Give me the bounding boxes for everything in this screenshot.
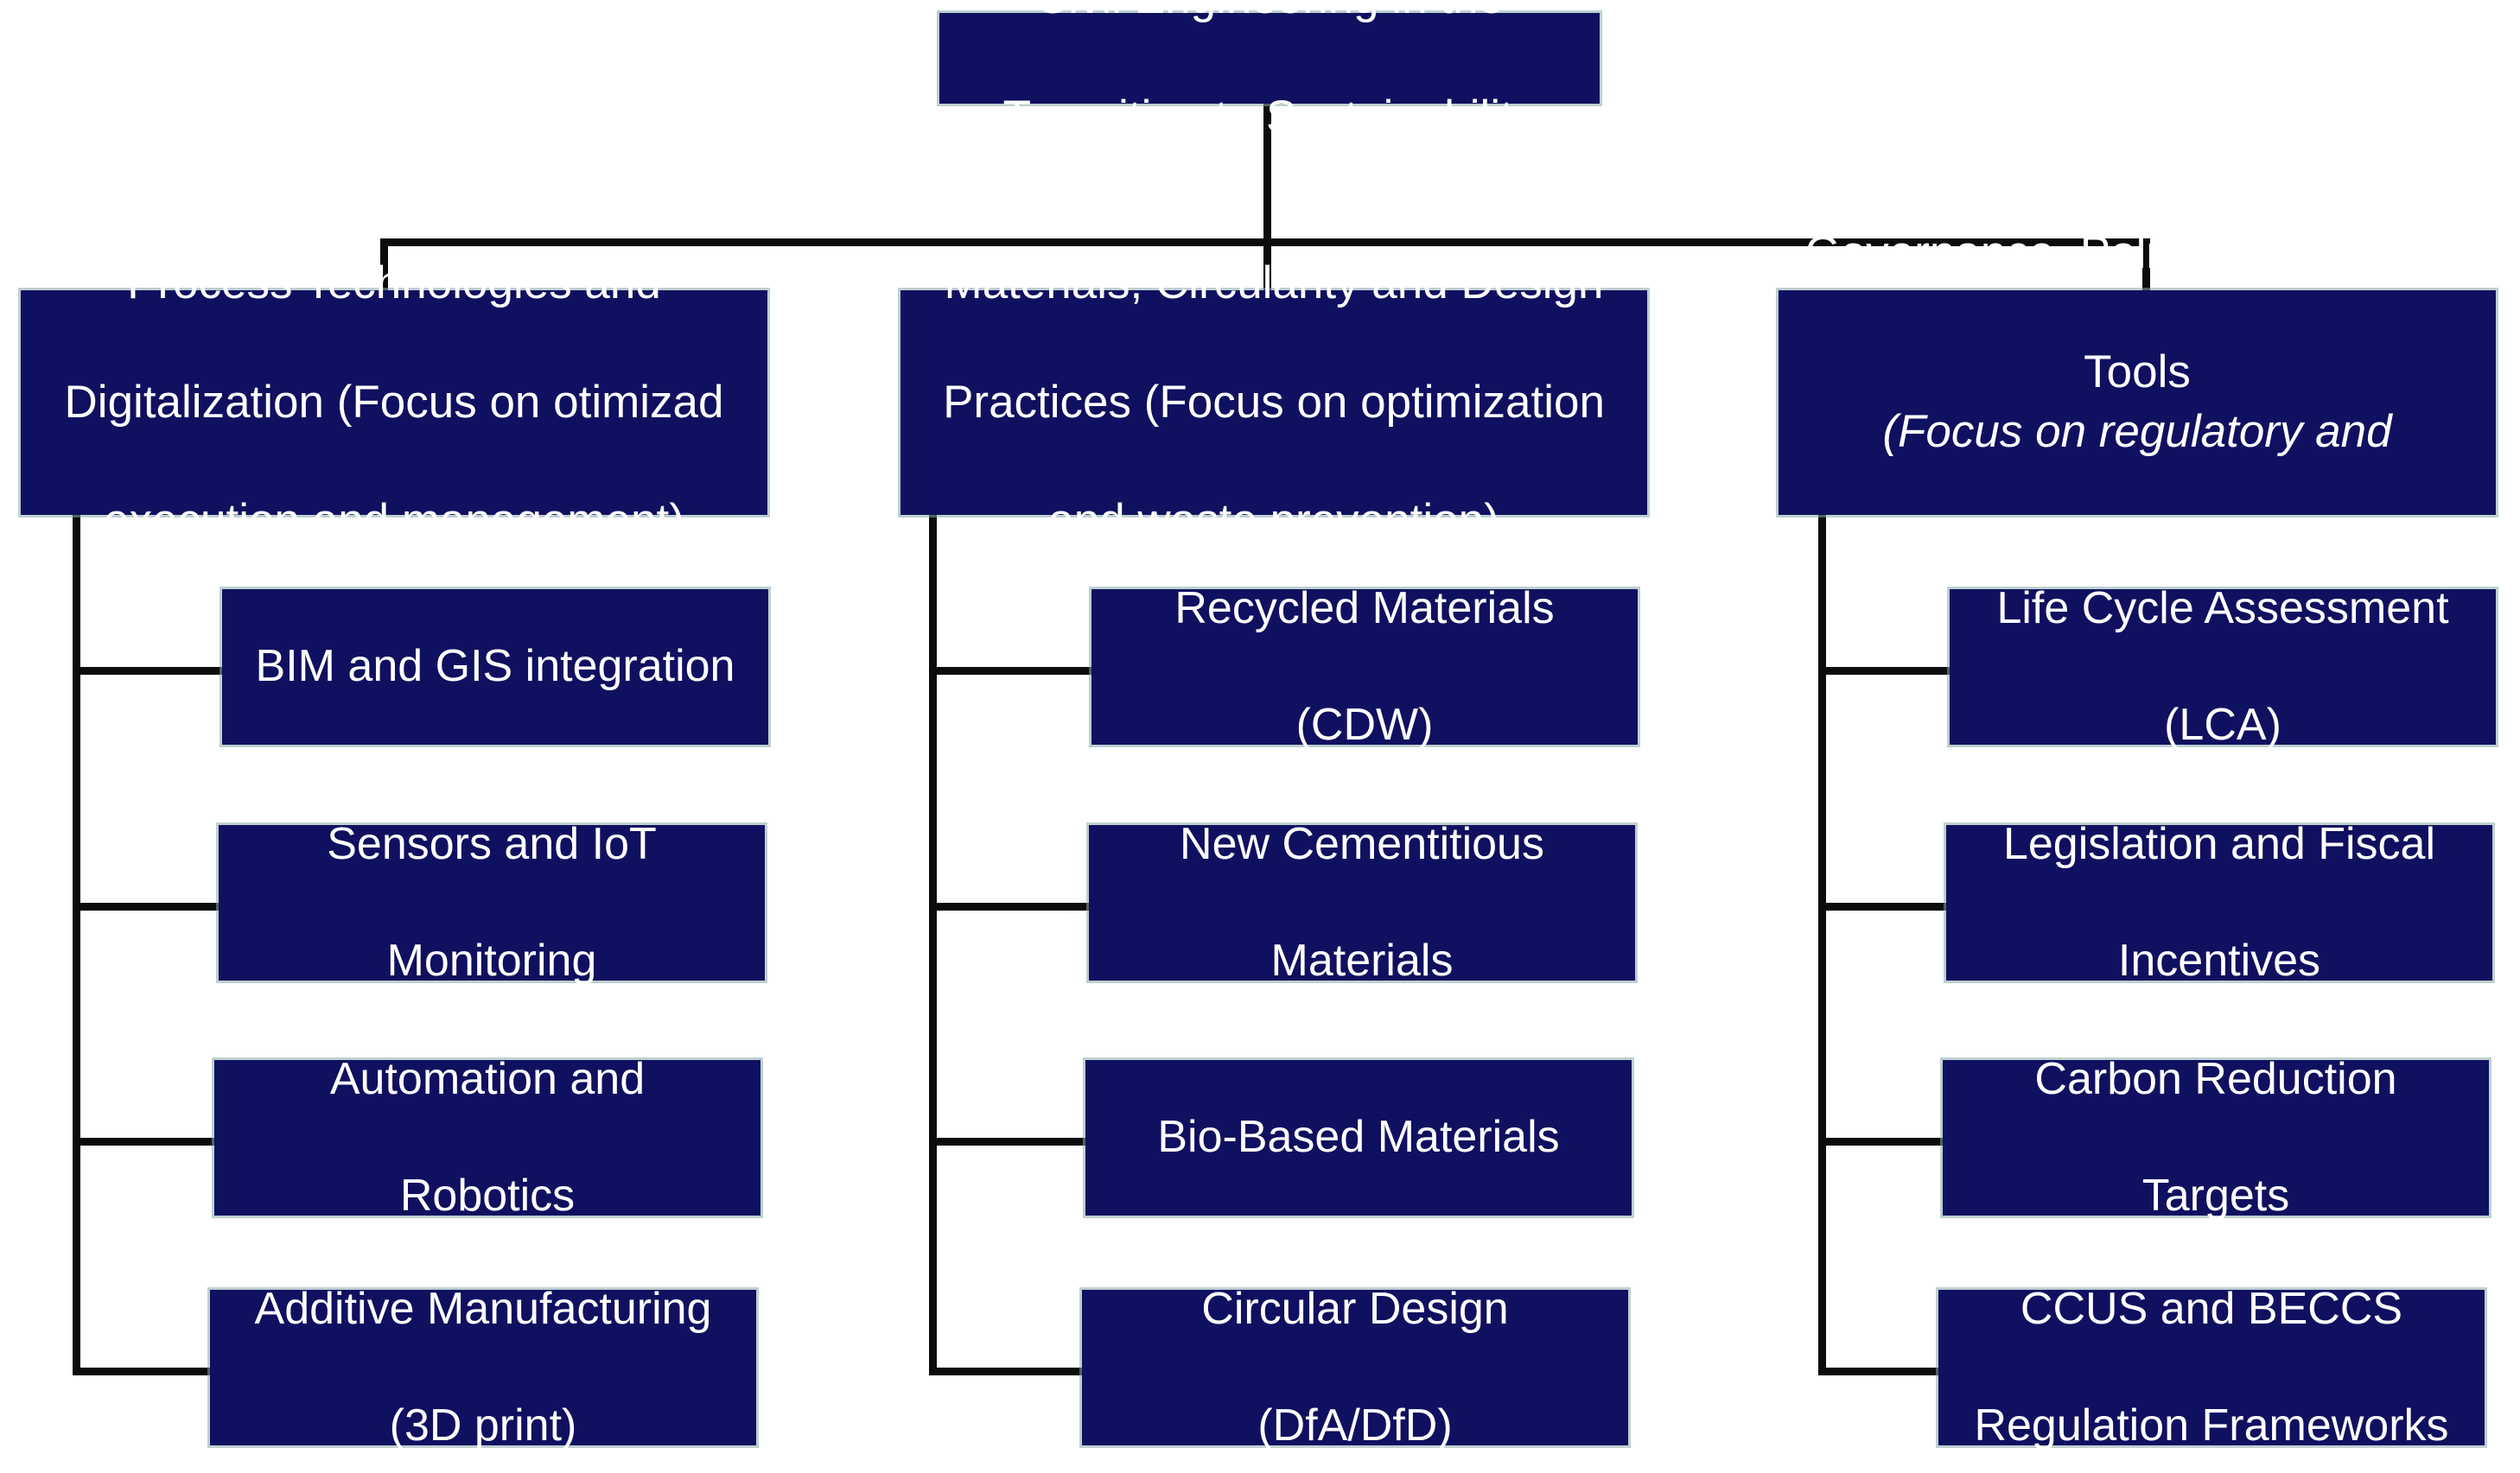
branch-3-label: Governance, Policies & Decision Tools (F… [1791, 224, 2484, 581]
leaf-recycled-materials-line-1: Recycled Materials [1104, 580, 1626, 638]
connector-stub-bim-gis [73, 667, 226, 675]
branch-3-line-2-plain: Tools [1791, 343, 2484, 403]
leaf-recycled-materials-line-2: (CDW) [1104, 696, 1626, 755]
branch-node-governance-policies[interactable]: Governance, Policies & Decision Tools (F… [1779, 290, 2496, 515]
connector-stub-bio-based [929, 1138, 1085, 1146]
leaf-circular-design-label: Circular Design (DfA/DfD) [1094, 1280, 1616, 1456]
connector-stub-additive-manufacturing [73, 1368, 213, 1375]
root-node-label: Civil Engineering in the Transition to S… [951, 0, 1588, 148]
root-node[interactable]: Civil Engineering in the Transition to S… [939, 13, 1600, 104]
leaf-ccus-beccs-line-2: Regulation Frameworks [1950, 1397, 2472, 1456]
branch-node-materials-circularity[interactable]: Materials, Circularity and Design Practi… [900, 290, 1647, 515]
branch-3-line-2-italic: (Focus on regulatory and [1791, 403, 2484, 462]
connector-stub-legislation-fiscal [1818, 903, 1946, 911]
branch-node-process-technologies[interactable]: Process Technologies and Digitalization … [21, 290, 767, 515]
leaf-carbon-targets-label: Carbon Reduction Targets [1955, 1051, 2477, 1226]
branch-2-line-1: Materials, Circularity and Design [913, 254, 1635, 314]
branch-2-line-2: Practices (Focus on optimization [913, 373, 1635, 433]
connector-stub-ccus-beccs [1818, 1368, 1938, 1375]
leaf-legislation-fiscal-line-2: Incentives [1958, 932, 2480, 991]
leaf-additive-manufacturing-line-2: (3D print) [222, 1397, 744, 1456]
leaf-node-bim-gis[interactable]: BIM and GIS integration [222, 589, 768, 745]
leaf-automation-robotics-line-2: Robotics [226, 1167, 748, 1226]
leaf-node-circular-design[interactable]: Circular Design (DfA/DfD) [1082, 1290, 1628, 1445]
leaf-node-additive-manufacturing[interactable]: Additive Manufacturing (3D print) [210, 1290, 756, 1445]
connector-stub-new-cementitious [929, 903, 1089, 911]
branch-1-line-3: execution and management) [33, 492, 755, 551]
branch-1-label: Process Technologies and Digitalization … [33, 254, 755, 551]
diagram-canvas: Civil Engineering in the Transition to S… [0, 0, 2520, 1473]
leaf-ccus-beccs-label: CCUS and BECCS Regulation Frameworks [1950, 1280, 2472, 1456]
leaf-additive-manufacturing-line-1: Additive Manufacturing [222, 1280, 744, 1339]
connector-trunk-branch-2 [929, 515, 937, 1375]
leaf-bim-gis-label: BIM and GIS integration [234, 638, 756, 696]
leaf-new-cementitious-label: New Cementitious Materials [1101, 816, 1623, 991]
leaf-carbon-targets-line-2: Targets [1955, 1167, 2477, 1226]
leaf-node-new-cementitious[interactable]: New Cementitious Materials [1089, 825, 1635, 981]
leaf-new-cementitious-line-1: New Cementitious [1101, 816, 1623, 874]
leaf-node-carbon-targets[interactable]: Carbon Reduction Targets [1943, 1060, 2489, 1216]
leaf-node-automation-robotics[interactable]: Automation and Robotics [214, 1060, 760, 1216]
branch-1-line-1: Process Technologies and [33, 254, 755, 314]
leaf-bio-based-label: Bio-Based Materials [1098, 1108, 1620, 1167]
leaf-lca-line-1: Life Cycle Assessment [1962, 580, 2484, 638]
root-line-2: Transition to Sustainability [951, 88, 1588, 148]
connector-stub-automation-robotics [73, 1138, 218, 1146]
connector-stub-sensors-iot [73, 903, 222, 911]
connector-trunk-branch-1 [73, 515, 80, 1375]
leaf-carbon-targets-line-1: Carbon Reduction [1955, 1051, 2477, 1109]
leaf-node-bio-based[interactable]: Bio-Based Materials [1085, 1060, 1632, 1216]
leaf-lca-label: Life Cycle Assessment (LCA) [1962, 580, 2484, 755]
leaf-node-legislation-fiscal[interactable]: Legislation and Fiscal Incentives [1946, 825, 2492, 981]
connector-stub-circular-design [929, 1368, 1082, 1375]
branch-3-line-1: Governance, Policies & Decision [1791, 224, 2484, 283]
branch-2-line-3: and waste prevention) [913, 492, 1635, 551]
leaf-node-ccus-beccs[interactable]: CCUS and BECCS Regulation Frameworks [1938, 1290, 2485, 1445]
leaf-legislation-fiscal-line-1: Legislation and Fiscal [1958, 816, 2480, 874]
root-line-1: Civil Engineering in the [951, 0, 1588, 29]
leaf-node-recycled-materials[interactable]: Recycled Materials (CDW) [1091, 589, 1638, 745]
connector-stub-recycled-materials [929, 667, 1091, 675]
branch-3-line-3-italic: assessment instruments) [1791, 522, 2484, 581]
leaf-automation-robotics-line-1: Automation and [226, 1051, 748, 1109]
leaf-new-cementitious-line-2: Materials [1101, 932, 1623, 991]
leaf-circular-design-line-1: Circular Design [1094, 1280, 1616, 1339]
leaf-sensors-iot-line-2: Monitoring [231, 932, 753, 991]
leaf-ccus-beccs-line-1: CCUS and BECCS [1950, 1280, 2472, 1339]
leaf-node-sensors-iot[interactable]: Sensors and IoT Monitoring [219, 825, 765, 981]
connector-trunk-branch-3 [1818, 515, 1826, 1375]
leaf-automation-robotics-label: Automation and Robotics [226, 1051, 748, 1226]
leaf-additive-manufacturing-label: Additive Manufacturing (3D print) [222, 1280, 744, 1456]
leaf-sensors-iot-label: Sensors and IoT Monitoring [231, 816, 753, 991]
leaf-bio-based-line-1: Bio-Based Materials [1098, 1108, 1620, 1167]
branch-2-label: Materials, Circularity and Design Practi… [913, 254, 1635, 551]
leaf-node-lca[interactable]: Life Cycle Assessment (LCA) [1950, 589, 2496, 745]
leaf-bim-gis-line-1: BIM and GIS integration [234, 638, 756, 696]
leaf-legislation-fiscal-label: Legislation and Fiscal Incentives [1958, 816, 2480, 991]
connector-stub-lca [1818, 667, 1950, 675]
connector-stub-carbon-targets [1818, 1138, 1943, 1146]
leaf-recycled-materials-label: Recycled Materials (CDW) [1104, 580, 1626, 755]
branch-1-line-2: Digitalization (Focus on otimizad [33, 373, 755, 433]
leaf-circular-design-line-2: (DfA/DfD) [1094, 1397, 1616, 1456]
leaf-sensors-iot-line-1: Sensors and IoT [231, 816, 753, 874]
leaf-lca-line-2: (LCA) [1962, 696, 2484, 755]
